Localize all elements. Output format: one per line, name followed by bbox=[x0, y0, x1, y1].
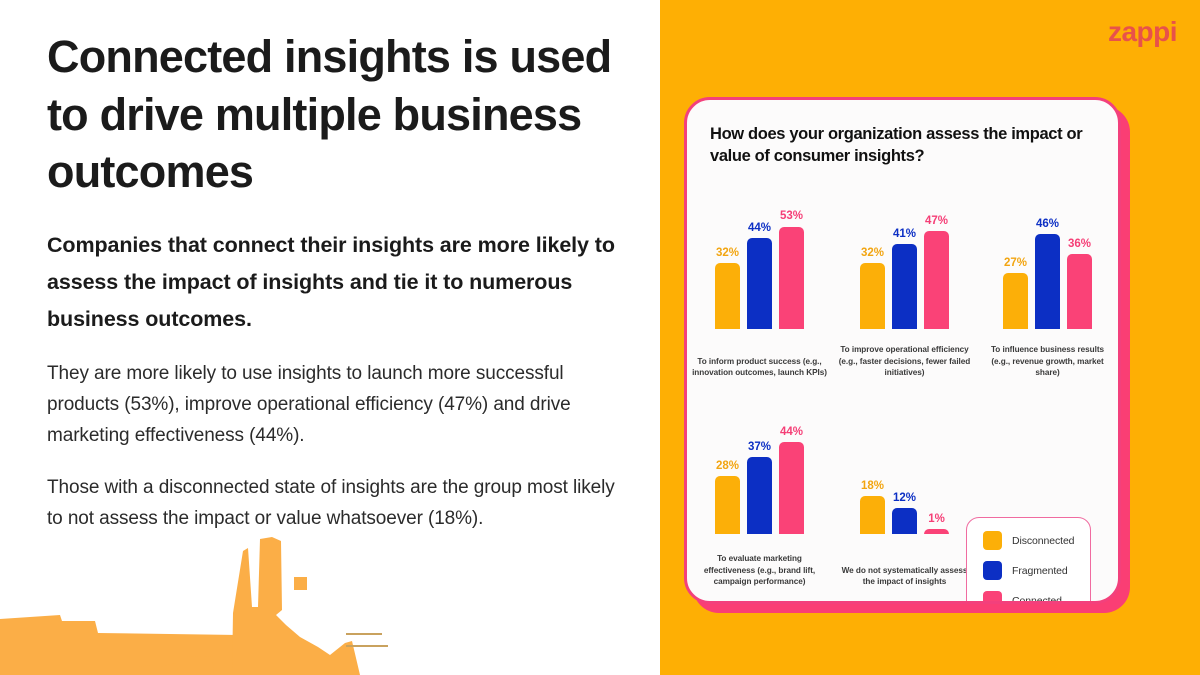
bar-rect bbox=[747, 238, 772, 329]
bar-rect bbox=[1035, 234, 1060, 329]
bar-rect bbox=[747, 457, 772, 534]
chart-legend: Disconnected Fragmented Connected bbox=[966, 517, 1091, 604]
bar-value-label: 28% bbox=[716, 461, 739, 473]
body-paragraph-2: Those with a disconnected state of insig… bbox=[47, 473, 627, 535]
legend-item-fragmented[interactable]: Fragmented bbox=[983, 561, 1090, 580]
bar-rect bbox=[1003, 273, 1028, 329]
bar-value-label: 53% bbox=[780, 211, 803, 223]
bar-fragmented[interactable]: 37% bbox=[747, 416, 772, 534]
legend-swatch-icon bbox=[983, 591, 1002, 604]
bar-set: 32% 44% 53% bbox=[687, 211, 832, 329]
bar-rect bbox=[779, 227, 804, 330]
bar-value-label: 1% bbox=[928, 514, 945, 526]
bar-value-label: 36% bbox=[1068, 239, 1091, 251]
chart-card: How does your organization assess the im… bbox=[684, 97, 1121, 604]
bar-group-do-not-systematically-assess: 18% 12% 1% We do not systematically asse… bbox=[832, 397, 977, 592]
category-label: To influence business results (e.g., rev… bbox=[981, 344, 1114, 379]
category-label: To inform product success (e.g., innovat… bbox=[691, 356, 828, 379]
bar-rect bbox=[715, 476, 740, 534]
legend-swatch-icon bbox=[983, 531, 1002, 550]
bar-group-influence-business-results: 27% 46% 36% To influence business result… bbox=[977, 192, 1118, 387]
bar-set: 18% 12% 1% bbox=[832, 416, 977, 534]
bar-connected[interactable]: 1% bbox=[924, 416, 949, 534]
bar-connected[interactable]: 44% bbox=[779, 416, 804, 534]
bar-rect bbox=[892, 508, 917, 534]
legend-label: Disconnected bbox=[1012, 535, 1074, 547]
category-label: To evaluate marketing effectiveness (e.g… bbox=[691, 553, 828, 588]
bar-value-label: 44% bbox=[748, 223, 771, 235]
zappi-logo: zappi bbox=[1108, 18, 1177, 46]
chart-title: How does your organization assess the im… bbox=[710, 124, 1105, 168]
legend-label: Fragmented bbox=[1012, 565, 1068, 577]
bar-disconnected[interactable]: 18% bbox=[860, 416, 885, 534]
bar-value-label: 41% bbox=[893, 229, 916, 241]
bar-value-label: 46% bbox=[1036, 219, 1059, 231]
bar-set: 28% 37% 44% bbox=[687, 416, 832, 534]
bar-connected[interactable]: 36% bbox=[1067, 211, 1092, 329]
legend-item-connected[interactable]: Connected bbox=[983, 591, 1090, 604]
bar-rect bbox=[860, 496, 885, 534]
bar-set: 32% 41% 47% bbox=[832, 211, 977, 329]
bar-rect bbox=[860, 263, 885, 329]
bar-value-label: 32% bbox=[716, 248, 739, 260]
chart-row-top: 32% 44% 53% To inform product success (e… bbox=[687, 192, 1118, 387]
decorative-silhouette bbox=[0, 515, 420, 675]
bar-group-improve-operational-efficiency: 32% 41% 47% To improve operational effic… bbox=[832, 192, 977, 387]
legend-item-disconnected[interactable]: Disconnected bbox=[983, 531, 1090, 550]
bar-group-inform-product-success: 32% 44% 53% To inform product success (e… bbox=[687, 192, 832, 387]
legend-swatch-icon bbox=[983, 561, 1002, 580]
bar-value-label: 12% bbox=[893, 493, 916, 505]
bar-fragmented[interactable]: 44% bbox=[747, 211, 772, 329]
subheading-text: Companies that connect their insights ar… bbox=[47, 227, 627, 339]
bar-value-label: 18% bbox=[861, 481, 884, 493]
chart-plot-area: 32% 44% 53% To inform product success (e… bbox=[687, 192, 1118, 604]
bar-disconnected[interactable]: 32% bbox=[715, 211, 740, 329]
bar-rect bbox=[924, 529, 949, 534]
bar-rect bbox=[779, 442, 804, 534]
bar-disconnected[interactable]: 27% bbox=[1003, 211, 1028, 329]
legend-label: Connected bbox=[1012, 595, 1062, 605]
bar-value-label: 44% bbox=[780, 427, 803, 439]
bar-value-label: 32% bbox=[861, 248, 884, 260]
bar-fragmented[interactable]: 46% bbox=[1035, 211, 1060, 329]
bar-connected[interactable]: 47% bbox=[924, 211, 949, 329]
slide-canvas: zappi Connected insights is used to driv… bbox=[0, 0, 1200, 675]
bar-fragmented[interactable]: 12% bbox=[892, 416, 917, 534]
bar-connected[interactable]: 53% bbox=[779, 211, 804, 329]
bar-rect bbox=[1067, 254, 1092, 329]
bar-fragmented[interactable]: 41% bbox=[892, 211, 917, 329]
body-paragraph-1: They are more likely to use insights to … bbox=[47, 359, 627, 452]
bar-value-label: 37% bbox=[748, 442, 771, 454]
bar-rect bbox=[892, 244, 917, 329]
bar-set: 27% 46% 36% bbox=[977, 211, 1118, 329]
bar-disconnected[interactable]: 28% bbox=[715, 416, 740, 534]
category-label: We do not systematically assess the impa… bbox=[836, 565, 973, 588]
bar-value-label: 27% bbox=[1004, 258, 1027, 270]
bar-value-label: 47% bbox=[925, 216, 948, 228]
category-label: To improve operational efficiency (e.g.,… bbox=[836, 344, 973, 379]
bar-rect bbox=[715, 263, 740, 329]
bar-disconnected[interactable]: 32% bbox=[860, 211, 885, 329]
left-text-column: Connected insights is used to drive mult… bbox=[47, 28, 627, 535]
bar-group-evaluate-marketing-effectiveness: 28% 37% 44% To evaluate marketing effect… bbox=[687, 397, 832, 592]
page-title: Connected insights is used to drive mult… bbox=[47, 28, 627, 201]
bar-rect bbox=[924, 231, 949, 329]
